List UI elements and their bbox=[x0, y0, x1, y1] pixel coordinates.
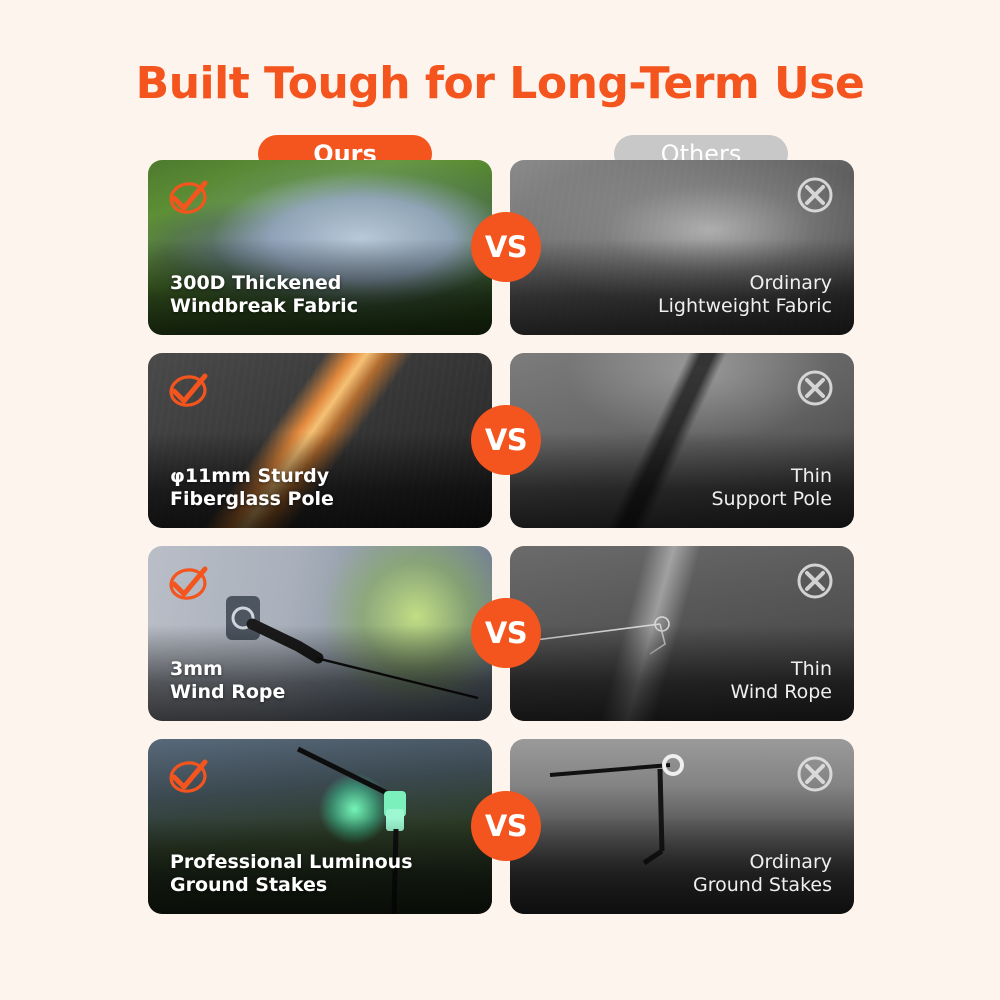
ours-label-line1: φ11mm Sturdy bbox=[170, 465, 334, 489]
others-label: Ordinary Ground Stakes bbox=[693, 851, 832, 898]
ours-label-line1: 300D Thickened bbox=[170, 272, 358, 296]
check-icon bbox=[168, 176, 210, 218]
ours-label-line1: Professional Luminous bbox=[170, 851, 413, 875]
others-label-line2: Lightweight Fabric bbox=[658, 295, 832, 319]
others-label-line2: Support Pole bbox=[711, 488, 832, 512]
vs-badge: VS bbox=[471, 212, 541, 282]
cross-icon bbox=[794, 753, 836, 795]
ours-label-line2: Ground Stakes bbox=[170, 874, 413, 898]
page-title: Built Tough for Long-Term Use bbox=[0, 58, 1000, 109]
others-label-line2: Wind Rope bbox=[730, 681, 832, 705]
comparison-row: φ11mm Sturdy Fiberglass Pole VS Thin Sup… bbox=[148, 353, 854, 528]
comparison-infographic: Built Tough for Long-Term Use Ours Other… bbox=[0, 0, 1000, 1000]
others-label: Thin Wind Rope bbox=[730, 658, 832, 705]
comparison-row: Professional Luminous Ground Stakes VS bbox=[148, 739, 854, 914]
vs-badge: VS bbox=[471, 791, 541, 861]
ours-label-line2: Wind Rope bbox=[170, 681, 285, 705]
check-icon bbox=[168, 562, 210, 604]
ours-label-line2: Fiberglass Pole bbox=[170, 488, 334, 512]
comparison-row: 3mm Wind Rope VS bbox=[148, 546, 854, 721]
comparison-rows: 300D Thickened Windbreak Fabric VS Ordin… bbox=[148, 160, 854, 932]
others-label-line2: Ground Stakes bbox=[693, 874, 832, 898]
ours-label: 3mm Wind Rope bbox=[170, 658, 285, 705]
ours-card: φ11mm Sturdy Fiberglass Pole bbox=[148, 353, 492, 528]
comparison-row: 300D Thickened Windbreak Fabric VS Ordin… bbox=[148, 160, 854, 335]
others-label-line1: Thin bbox=[711, 465, 832, 489]
others-card: Thin Wind Rope bbox=[510, 546, 854, 721]
ours-label-line1: 3mm bbox=[170, 658, 285, 682]
ours-label: Professional Luminous Ground Stakes bbox=[170, 851, 413, 898]
others-card: Thin Support Pole bbox=[510, 353, 854, 528]
ours-label-line2: Windbreak Fabric bbox=[170, 295, 358, 319]
others-label-line1: Thin bbox=[730, 658, 832, 682]
ours-card: 3mm Wind Rope bbox=[148, 546, 492, 721]
others-label: Ordinary Lightweight Fabric bbox=[658, 272, 832, 319]
ours-card: Professional Luminous Ground Stakes bbox=[148, 739, 492, 914]
ours-card: 300D Thickened Windbreak Fabric bbox=[148, 160, 492, 335]
ours-label: φ11mm Sturdy Fiberglass Pole bbox=[170, 465, 334, 512]
others-label: Thin Support Pole bbox=[711, 465, 832, 512]
check-icon bbox=[168, 755, 210, 797]
cross-icon bbox=[794, 367, 836, 409]
others-label-line1: Ordinary bbox=[693, 851, 832, 875]
cross-icon bbox=[794, 174, 836, 216]
others-card: Ordinary Ground Stakes bbox=[510, 739, 854, 914]
check-icon bbox=[168, 369, 210, 411]
cross-icon bbox=[794, 560, 836, 602]
others-label-line1: Ordinary bbox=[658, 272, 832, 296]
vs-badge: VS bbox=[471, 405, 541, 475]
ours-label: 300D Thickened Windbreak Fabric bbox=[170, 272, 358, 319]
vs-badge: VS bbox=[471, 598, 541, 668]
others-card: Ordinary Lightweight Fabric bbox=[510, 160, 854, 335]
